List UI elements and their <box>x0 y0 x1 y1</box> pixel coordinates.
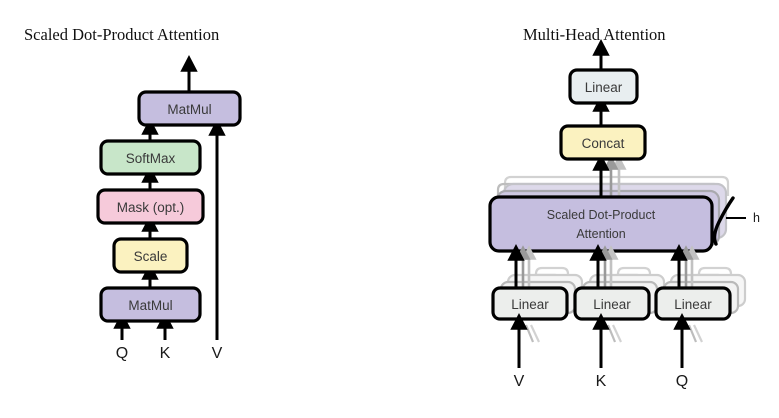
linear-group-q: Linear <box>656 253 745 368</box>
input-label-v: V <box>212 345 223 362</box>
node-linear-v-label: Linear <box>511 297 549 312</box>
figure-canvas: Scaled Dot-Product Attention MatMul Soft… <box>0 0 779 418</box>
input-label-k: K <box>160 345 171 362</box>
node-linear-k-label: Linear <box>593 297 631 312</box>
node-linear-out[interactable]: Linear <box>570 70 637 103</box>
head-count-label: h <box>753 211 760 225</box>
input-label-v-right: V <box>514 373 525 390</box>
node-linear-v[interactable]: Linear <box>493 288 567 319</box>
node-linear-out-label: Linear <box>585 80 623 95</box>
node-linear-q-label: Linear <box>674 297 712 312</box>
input-label-q-right: Q <box>676 373 688 390</box>
node-linear-q[interactable]: Linear <box>656 288 730 319</box>
node-scale-label: Scale <box>134 249 168 264</box>
node-concat[interactable]: Concat <box>561 126 645 159</box>
node-concat-label: Concat <box>582 136 625 151</box>
node-softmax-label: SoftMax <box>126 151 176 166</box>
node-attention-label-line1: Scaled Dot-Product <box>547 208 656 222</box>
node-scale[interactable]: Scale <box>114 239 187 272</box>
node-matmul-top[interactable]: MatMul <box>139 92 240 125</box>
node-mask[interactable]: Mask (opt.) <box>98 190 203 223</box>
node-softmax[interactable]: SoftMax <box>101 141 200 174</box>
right-panel-title: Multi-Head Attention <box>523 25 666 44</box>
input-label-q: Q <box>116 345 128 362</box>
node-matmul-top-label: MatMul <box>167 102 211 117</box>
linear-group-k: Linear <box>575 253 664 368</box>
node-matmul-bottom[interactable]: MatMul <box>101 288 200 321</box>
node-attention-label-line2: Attention <box>576 227 625 241</box>
input-label-k-right: K <box>596 373 607 390</box>
node-mask-label: Mask (opt.) <box>117 200 185 215</box>
node-linear-k[interactable]: Linear <box>575 288 649 319</box>
left-panel-title: Scaled Dot-Product Attention <box>24 25 219 44</box>
linear-group-v: Linear <box>493 253 582 368</box>
node-matmul-bottom-label: MatMul <box>128 298 172 313</box>
node-attention[interactable]: Scaled Dot-Product Attention <box>490 197 712 251</box>
